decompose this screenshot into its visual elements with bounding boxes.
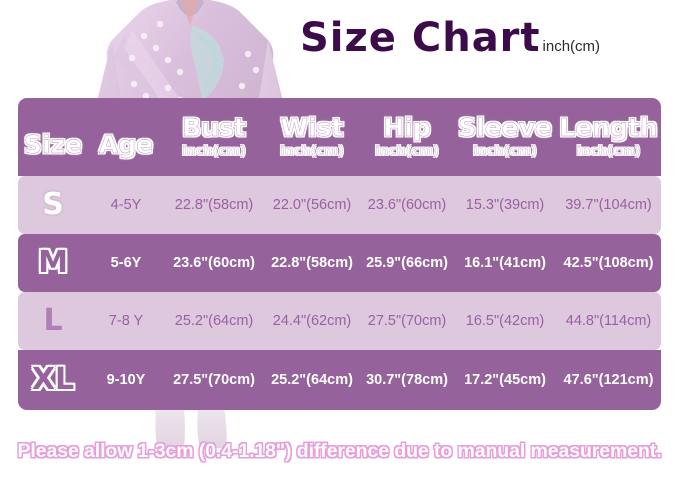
- row-length-cell: 44.8"(114cm): [556, 313, 661, 329]
- bust-value: 22.8"(58cm): [175, 197, 253, 213]
- row-age-cell: 9-10Y: [88, 372, 164, 388]
- row-bust-cell: 22.8"(58cm): [164, 197, 264, 213]
- column-header-wist-unit: inch(cm): [280, 144, 344, 159]
- hip-value: 27.5"(70cm): [368, 313, 446, 329]
- column-header-age-label: Age: [99, 116, 153, 158]
- column-header-length-unit: inch(cm): [577, 144, 641, 159]
- row-age-cell: 5-6Y: [88, 255, 164, 271]
- row-sleeve-cell: 15.3"(39cm): [454, 197, 556, 213]
- row-age-cell: 7-8 Y: [88, 313, 164, 329]
- sleeve-value: 16.5"(42cm): [466, 313, 544, 329]
- row-size-cell: XL: [18, 365, 88, 395]
- hip-value: 30.7"(78cm): [366, 372, 448, 388]
- column-header-size: Size: [18, 116, 88, 158]
- table-row: L 7-8 Y 25.2"(64cm) 24.4"(62cm) 27.5"(70…: [18, 292, 661, 350]
- row-bust-cell: 27.5"(70cm): [164, 372, 264, 388]
- size-chart-table: Size Age Bust inch(cm) Wist inch(cm) Hip…: [18, 98, 661, 410]
- page-title-unit: inch(cm): [543, 38, 601, 58]
- column-header-length-label: Length: [559, 115, 657, 141]
- row-hip-cell: 27.5"(70cm): [360, 313, 454, 329]
- wist-value: 25.2"(64cm): [271, 372, 353, 388]
- bust-value: 25.2"(64cm): [175, 313, 253, 329]
- column-header-bust: Bust inch(cm): [164, 115, 264, 160]
- wist-value: 22.8"(58cm): [271, 255, 353, 271]
- column-header-size-label: Size: [24, 116, 82, 158]
- length-value: 47.6"(121cm): [564, 372, 654, 388]
- age-value: 9-10Y: [107, 372, 146, 388]
- row-size-cell: L: [18, 306, 88, 336]
- bust-value: 27.5"(70cm): [173, 372, 255, 388]
- row-length-cell: 42.5"(108cm): [556, 255, 661, 271]
- row-hip-cell: 23.6"(60cm): [360, 197, 454, 213]
- row-sleeve-cell: 16.1"(41cm): [454, 255, 556, 271]
- table-row: M 5-6Y 23.6"(60cm) 22.8"(58cm) 25.9"(66c…: [18, 234, 661, 292]
- table-row: S 4-5Y 22.8"(58cm) 22.0"(56cm) 23.6"(60c…: [18, 176, 661, 234]
- hip-value: 23.6"(60cm): [368, 197, 446, 213]
- length-value: 42.5"(108cm): [564, 255, 654, 271]
- row-sleeve-cell: 16.5"(42cm): [454, 313, 556, 329]
- wist-value: 22.0"(56cm): [273, 197, 351, 213]
- row-age-cell: 4-5Y: [88, 197, 164, 213]
- row-wist-cell: 22.8"(58cm): [264, 255, 360, 271]
- row-hip-cell: 25.9"(66cm): [360, 255, 454, 271]
- row-wist-cell: 25.2"(64cm): [264, 372, 360, 388]
- column-header-sleeve-unit: inch(cm): [473, 144, 537, 159]
- hip-value: 25.9"(66cm): [366, 255, 448, 271]
- age-value: 7-8 Y: [109, 313, 143, 329]
- row-length-cell: 47.6"(121cm): [556, 372, 661, 388]
- age-value: 4-5Y: [111, 197, 142, 213]
- size-label: L: [43, 306, 62, 336]
- size-label: M: [38, 248, 68, 278]
- row-hip-cell: 30.7"(78cm): [360, 372, 454, 388]
- page-title: Size Chart inch(cm): [300, 18, 600, 58]
- column-header-length: Length inch(cm): [556, 115, 661, 160]
- age-value: 5-6Y: [111, 255, 142, 271]
- column-header-hip-label: Hip: [383, 115, 430, 141]
- length-value: 39.7"(104cm): [565, 197, 652, 213]
- row-bust-cell: 23.6"(60cm): [164, 255, 264, 271]
- column-header-bust-unit: inch(cm): [182, 144, 246, 159]
- column-header-hip: Hip inch(cm): [360, 115, 454, 160]
- sleeve-value: 16.1"(41cm): [464, 255, 546, 271]
- column-header-hip-unit: inch(cm): [375, 144, 439, 159]
- column-header-sleeve-label: Sleeve: [458, 115, 552, 141]
- page-title-text: Size Chart: [300, 18, 541, 58]
- bust-value: 23.6"(60cm): [173, 255, 255, 271]
- length-value: 44.8"(114cm): [566, 313, 651, 329]
- size-label: S: [42, 190, 64, 220]
- row-sleeve-cell: 17.2"(45cm): [454, 372, 556, 388]
- row-size-cell: M: [18, 248, 88, 278]
- row-size-cell: S: [18, 190, 88, 220]
- table-row: XL 9-10Y 27.5"(70cm) 25.2"(64cm) 30.7"(7…: [18, 350, 661, 410]
- row-wist-cell: 24.4"(62cm): [264, 313, 360, 329]
- size-label: XL: [32, 365, 74, 395]
- column-header-age: Age: [88, 116, 164, 158]
- row-length-cell: 39.7"(104cm): [556, 197, 661, 213]
- sleeve-value: 17.2"(45cm): [464, 372, 546, 388]
- table-header-row: Size Age Bust inch(cm) Wist inch(cm) Hip…: [18, 98, 661, 176]
- wist-value: 24.4"(62cm): [273, 313, 351, 329]
- column-header-sleeve: Sleeve inch(cm): [454, 115, 556, 160]
- row-wist-cell: 22.0"(56cm): [264, 197, 360, 213]
- column-header-wist-label: Wist: [281, 115, 344, 141]
- column-header-bust-label: Bust: [182, 115, 246, 141]
- column-header-wist: Wist inch(cm): [264, 115, 360, 160]
- row-bust-cell: 25.2"(64cm): [164, 313, 264, 329]
- measurement-disclaimer: Please allow 1-3cm (0.4-1.18") differenc…: [0, 440, 679, 463]
- sleeve-value: 15.3"(39cm): [466, 197, 544, 213]
